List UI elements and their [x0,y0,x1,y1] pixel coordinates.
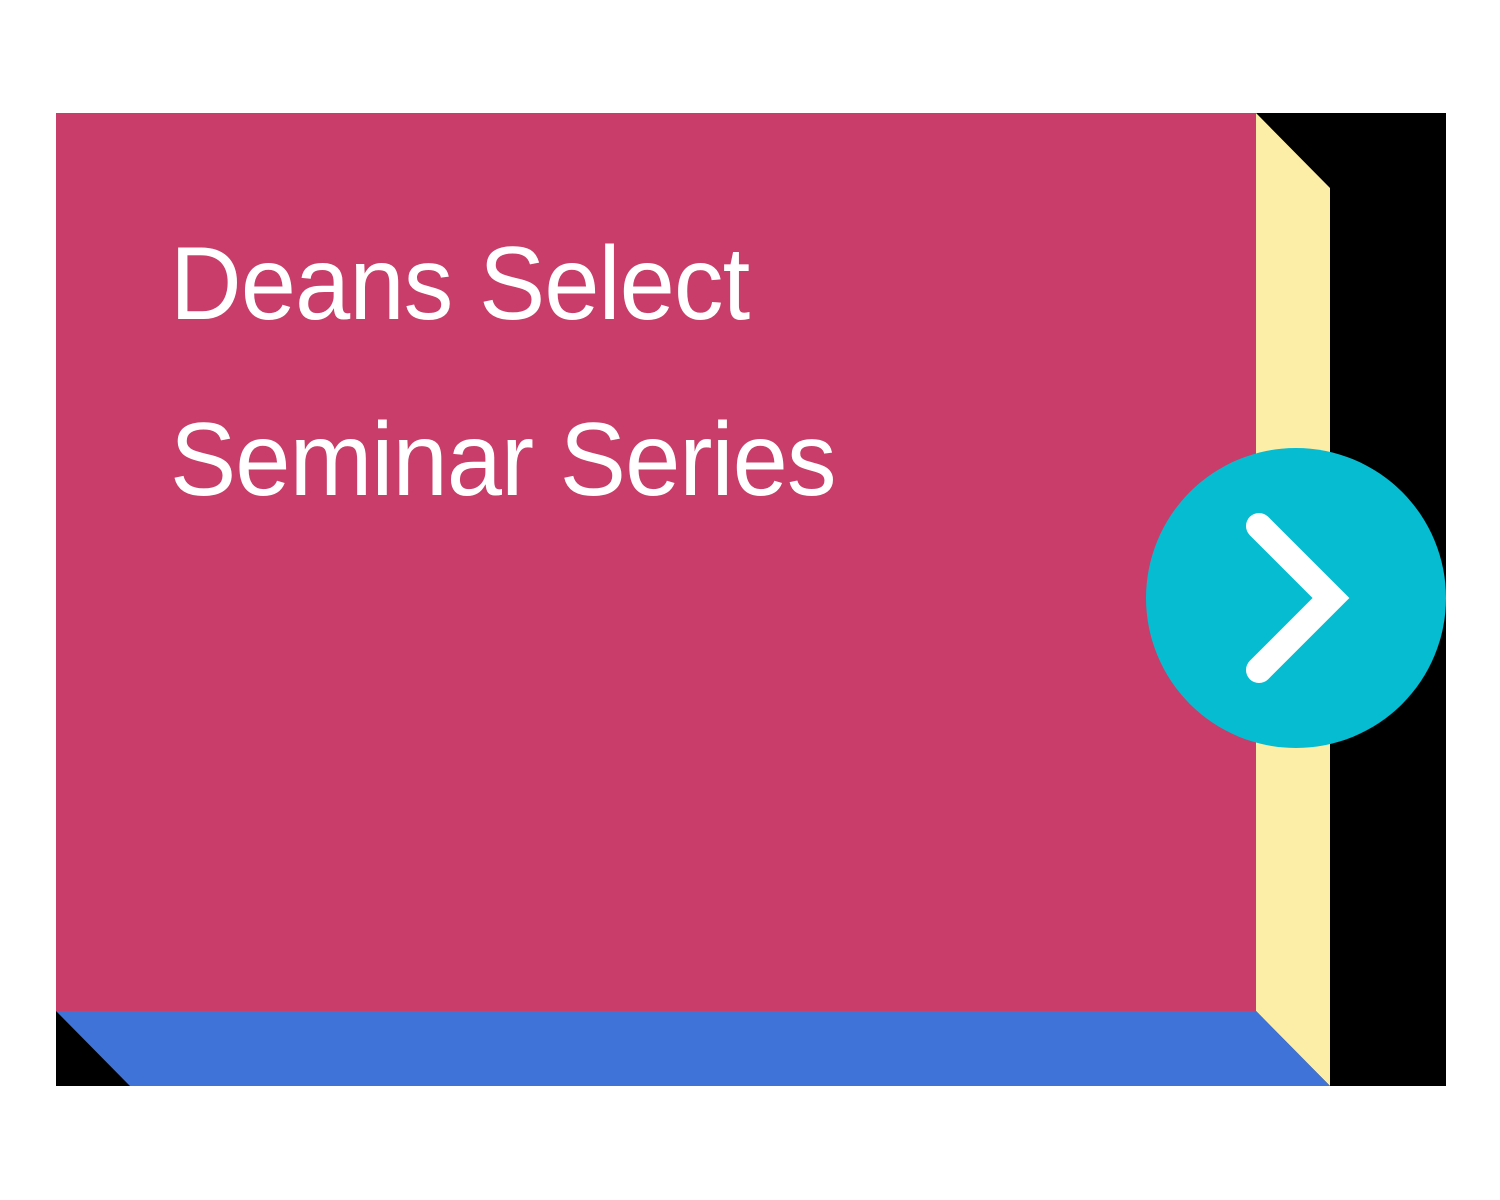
card-stage: Deans Select Seminar Series [0,0,1500,1200]
page-title-line-2: Seminar Series [170,372,1144,548]
next-button[interactable] [1146,448,1446,748]
page-title: Deans Select Seminar Series [170,196,1190,548]
chevron-right-icon[interactable] [1146,448,1446,748]
page-title-line-1: Deans Select [170,196,1144,372]
card-bottom-bevel [56,1011,1330,1086]
